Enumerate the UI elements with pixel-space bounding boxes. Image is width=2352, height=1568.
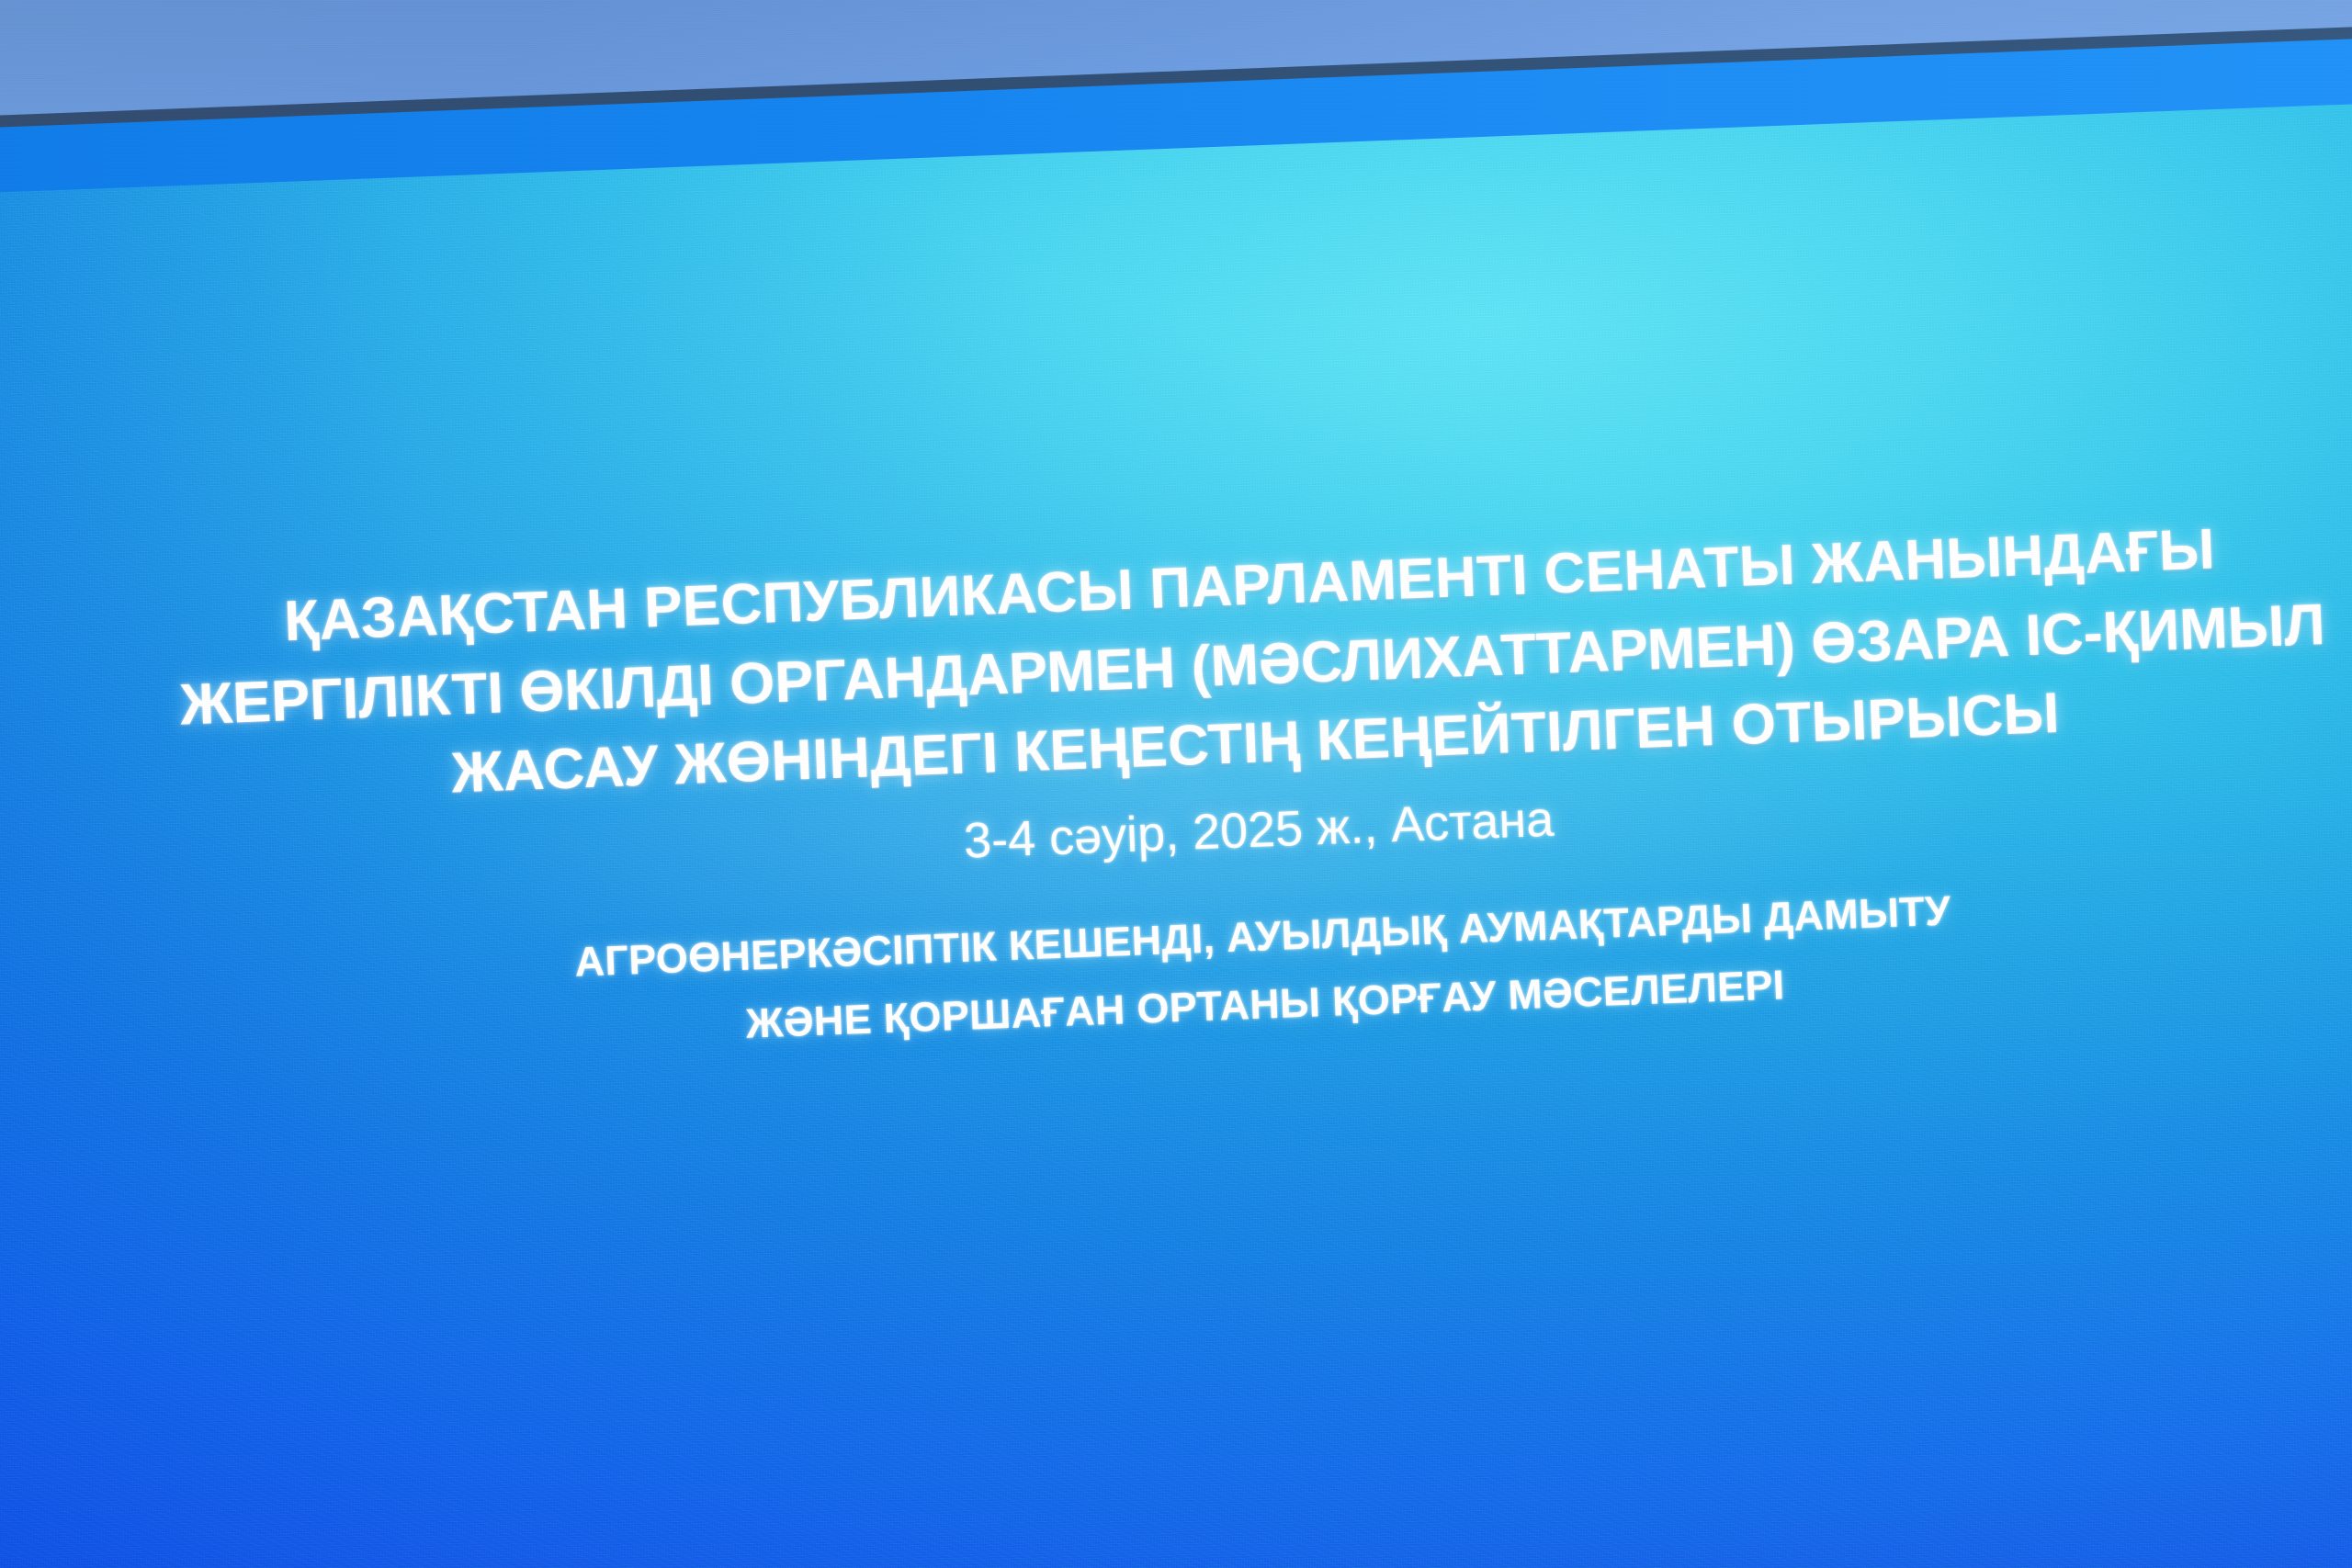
led-video-wall: ҚАЗАҚСТАН РЕСПУБЛИКАСЫ ПАРЛАМЕНТІ СЕНАТЫ…	[0, 100, 2352, 1568]
led-screen-assembly: ҚАЗАҚСТАН РЕСПУБЛИКАСЫ ПАРЛАМЕНТІ СЕНАТЫ…	[0, 23, 2352, 1568]
screenshot-root: ҚАЗАҚСТАН РЕСПУБЛИКАСЫ ПАРЛАМЕНТІ СЕНАТЫ…	[0, 0, 2352, 1568]
slide-content: ҚАЗАҚСТАН РЕСПУБЛИКАСЫ ПАРЛАМЕНТІ СЕНАТЫ…	[0, 501, 2352, 1089]
